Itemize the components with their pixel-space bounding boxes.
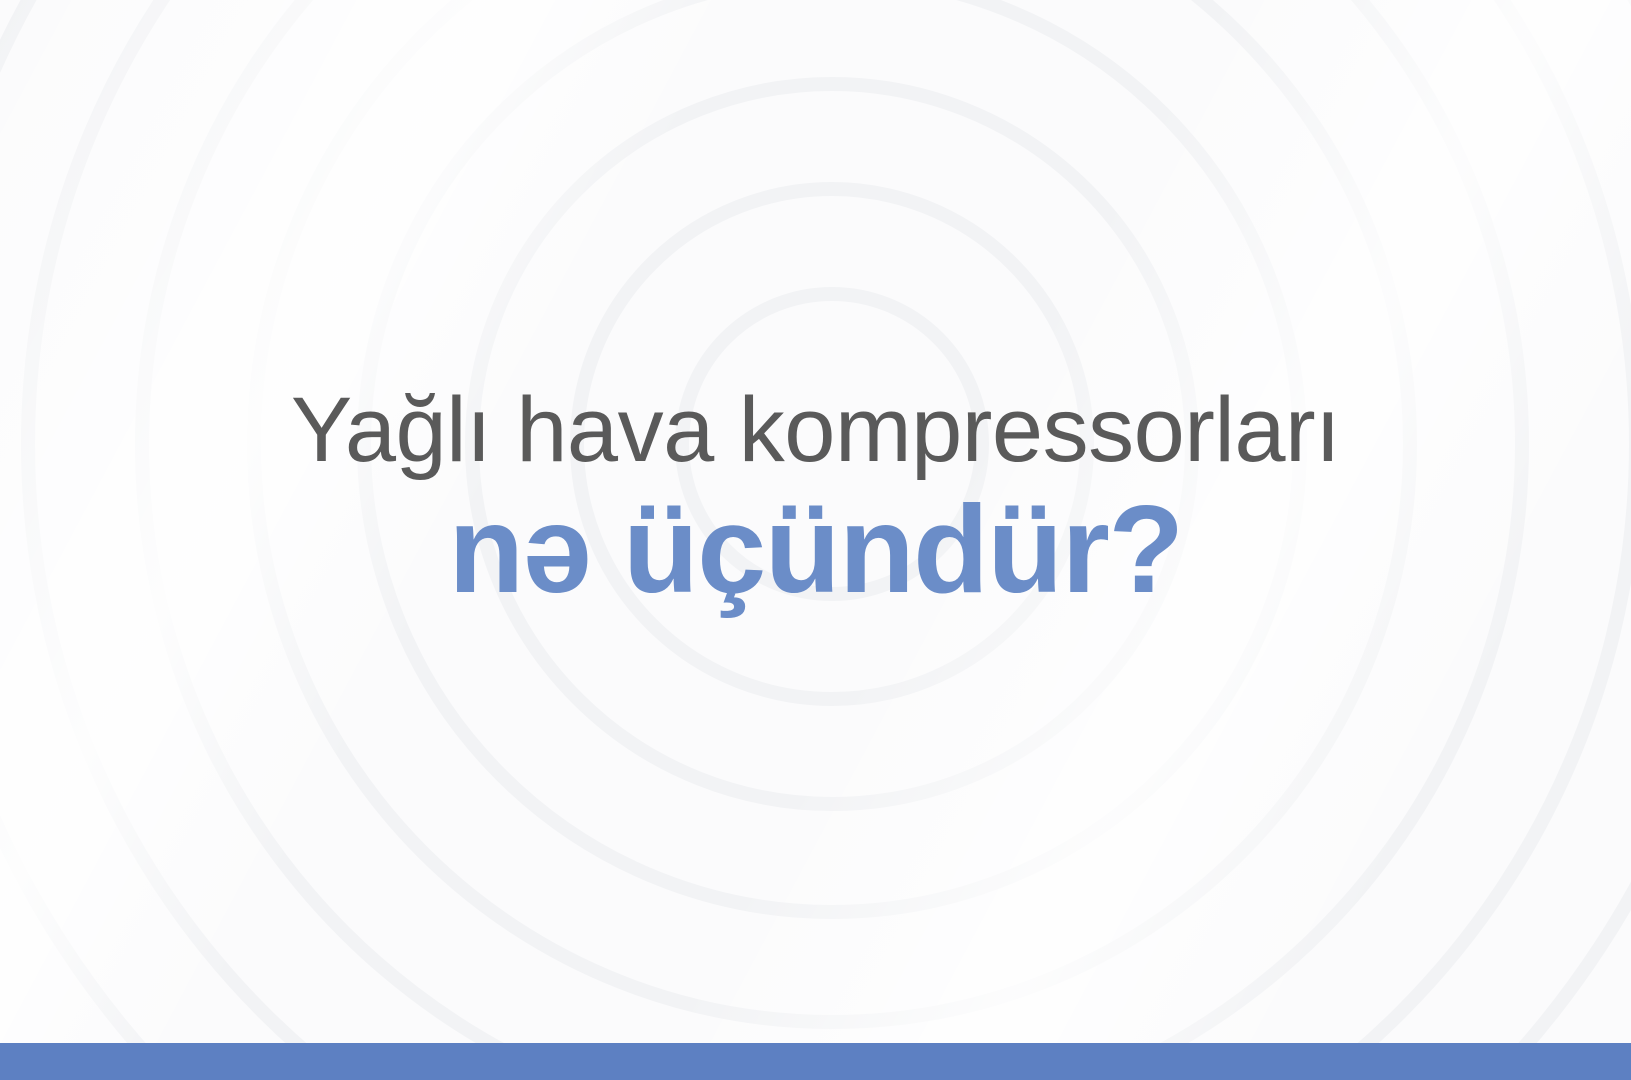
title-line-accent: nə üçündür? bbox=[0, 488, 1631, 612]
title-line-primary: Yağlı hava kompressorları bbox=[0, 384, 1631, 476]
title-slide: Yağlı hava kompressorları nə üçündür? bbox=[0, 0, 1631, 1080]
bottom-accent-bar bbox=[0, 1043, 1631, 1080]
page-title: Yağlı hava kompressorları nə üçündür? bbox=[0, 384, 1631, 612]
